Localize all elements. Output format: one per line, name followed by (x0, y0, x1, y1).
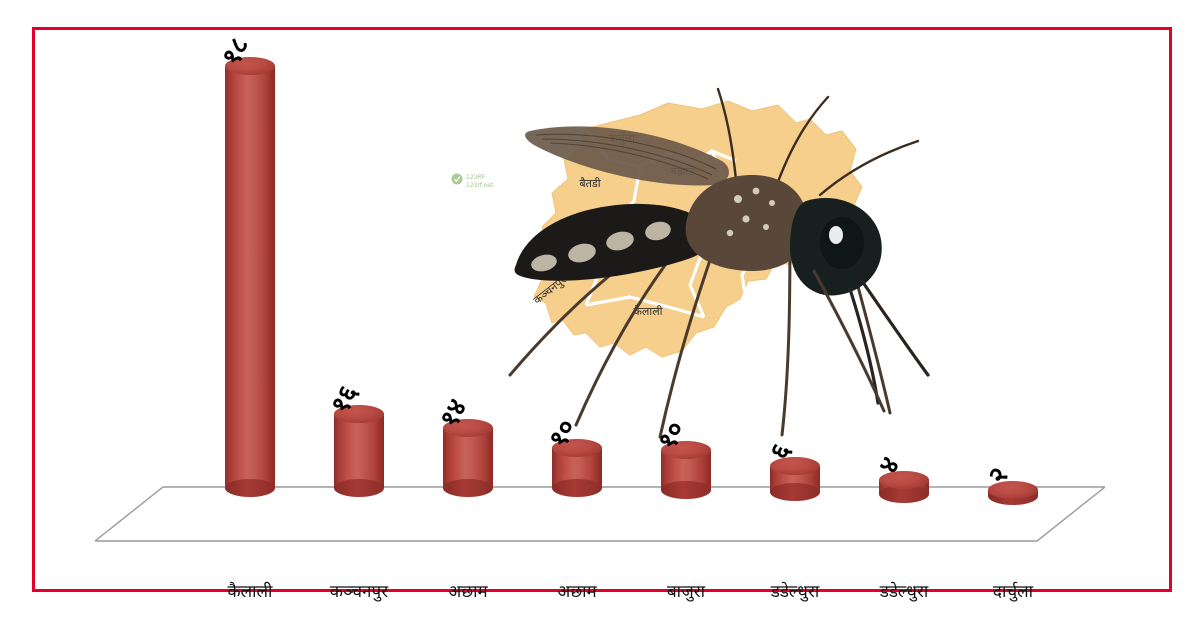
bar-5-base (770, 483, 820, 501)
mosquito-illustration (510, 89, 928, 437)
screenshot-canvas: दार्चुला बझाङ बैतडी बाजुरा डडेल्धुरा डोट… (0, 0, 1200, 628)
watermark-line1: 123RF (466, 174, 486, 181)
stock-watermark: 123RF 123rf.net (450, 170, 520, 192)
chart-frame: दार्चुला बझाङ बैतडी बाजुरा डडेल्धुरा डोट… (32, 27, 1172, 592)
map-label-baitadi: बैतडी (579, 177, 600, 190)
bar-0-body (225, 66, 275, 488)
map-label-doti: डोटी (640, 247, 658, 260)
bar-5[interactable]: ६ (770, 457, 820, 501)
bar-3[interactable]: १० (552, 439, 602, 497)
province-map-shape (534, 101, 862, 357)
bar-1-base (334, 479, 384, 497)
map-district-labels: दार्चुला बझाङ बैतडी बाजुरा डडेल्धुरा डोट… (531, 132, 756, 318)
bar-7[interactable]: २ (988, 481, 1038, 505)
map-label-kailali: कैलाली (633, 305, 662, 318)
map-label-achham: अछाम (709, 241, 735, 254)
map-label-bajhang: बझाङ (671, 165, 696, 178)
map-label-darchula: दार्चुला (609, 132, 635, 145)
category-label-7: दार्चुला (943, 579, 1083, 602)
bar-5-cap (770, 457, 820, 475)
bar-7-cap (988, 481, 1038, 499)
chart-plot-area: दार्चुला बझाङ बैतडी बाजुरा डडेल्धुरा डोट… (35, 30, 1169, 589)
bar-4-base (661, 481, 711, 499)
bar-2-base (443, 479, 493, 497)
map-label-bajura: बाजुरा (732, 183, 757, 196)
bar-0[interactable]: १८ (225, 57, 275, 497)
bar-0-base (225, 479, 275, 497)
map-label-dadeldhura: डडेल्धुरा (563, 227, 596, 240)
watermark-line2: 123rf.net (466, 182, 494, 189)
bar-1-body (334, 414, 384, 488)
map-label-kanchanpur: कञ्चनपुर (531, 273, 569, 307)
bar-6-cap (879, 471, 929, 489)
bar-6[interactable]: ४ (879, 471, 929, 503)
bar-2[interactable]: १४ (443, 419, 493, 497)
mosquito-and-map-artwork: दार्चुला बझाङ बैतडी बाजुरा डडेल्धुरा डोट… (490, 75, 930, 445)
bar-1[interactable]: १६ (334, 405, 384, 497)
bar-4[interactable]: १० (661, 441, 711, 499)
bar-3-base (552, 479, 602, 497)
